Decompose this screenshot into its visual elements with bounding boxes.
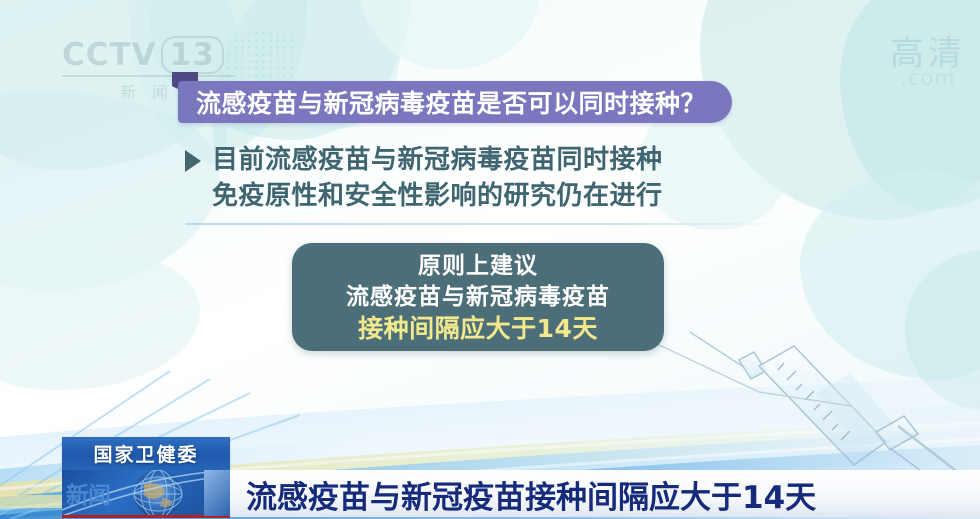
section-divider: [185, 223, 785, 225]
title-banner: 流感疫苗与新冠病毒疫苗是否可以同时接种？: [178, 81, 732, 123]
cctv-channel-number: 13: [161, 36, 224, 74]
station-mark: 新闻: [66, 476, 110, 510]
body-paragraph: 目前流感疫苗与新冠病毒疫苗同时接种 免疫原性和安全性影响的研究仍在进行: [212, 142, 812, 214]
recommendation-callout: 原则上建议 流感疫苗与新冠病毒疫苗 接种间隔应大于14天: [292, 243, 664, 351]
agency-badge-label: 国家卫健委: [93, 440, 198, 467]
body-line: 目前流感疫苗与新冠病毒疫苗同时接种: [212, 142, 812, 178]
headline-bar: 流感疫苗与新冠疫苗接种间隔应大于14天: [230, 470, 980, 517]
body-line: 免疫原性和安全性影响的研究仍在进行: [212, 178, 812, 214]
leader-line: [655, 338, 855, 418]
cctv-logo-text: CCTV: [62, 37, 157, 73]
callout-accent-line: 接种间隔应大于14天: [358, 313, 598, 344]
callout-line: 流感疫苗与新冠病毒疫苗: [346, 282, 610, 313]
headline-text: 流感疫苗与新冠疫苗接种间隔应大于14天: [246, 472, 816, 517]
headline-bar-accent: [204, 470, 232, 516]
broadcast-screen: CCTV13 新闻 高清 .com: [0, 0, 980, 519]
agency-badge: 国家卫健委: [62, 437, 230, 470]
triangle-right-icon: [185, 150, 201, 172]
hd-watermark-domain: .com: [890, 66, 966, 90]
callout-line: 原则上建议: [418, 251, 538, 282]
title-banner-text: 流感疫苗与新冠病毒疫苗是否可以同时接种？: [196, 84, 706, 120]
hd-watermark: 高清 .com: [890, 36, 966, 90]
cctv-logo-rule: [62, 75, 234, 77]
